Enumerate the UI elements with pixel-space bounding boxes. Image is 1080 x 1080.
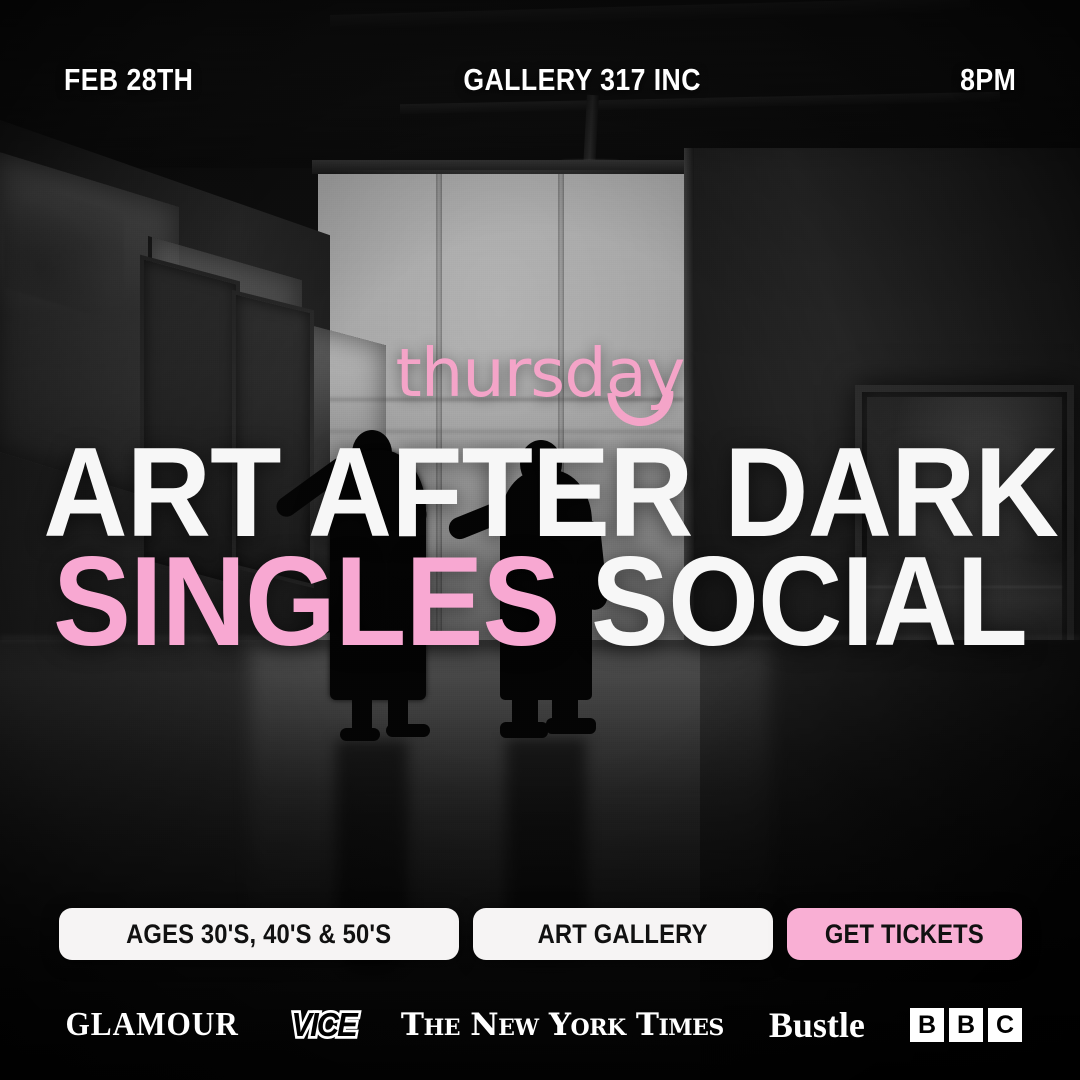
event-date: FEB 28TH bbox=[64, 62, 193, 98]
event-details-bar: FEB 28TH GALLERY 317 INC 8PM bbox=[0, 62, 1080, 98]
event-time: 8PM bbox=[960, 62, 1016, 98]
ages-badge: AGES 30'S, 40'S & 50'S bbox=[59, 908, 459, 960]
event-venue-name: GALLERY 317 INC bbox=[464, 62, 702, 98]
glamour-logo: GLAMOUR bbox=[66, 1006, 239, 1044]
event-poster: FEB 28TH GALLERY 317 INC 8PM thursday AR… bbox=[0, 0, 1080, 1080]
bustle-logo: Bustle bbox=[769, 1004, 865, 1046]
new-york-times-logo: The New York Times bbox=[401, 1007, 724, 1043]
headline-highlight: SINGLES bbox=[53, 530, 559, 672]
bbc-logo: B B C bbox=[910, 1008, 1022, 1042]
press-logo-strip: GLAMOUR VICE The New York Times Bustle B… bbox=[0, 994, 1080, 1056]
thursday-logo[interactable]: thursday bbox=[0, 340, 1080, 407]
headline-line-2-rest bbox=[560, 530, 592, 672]
headline-line-2-tail: SOCIAL bbox=[591, 530, 1027, 672]
ages-badge-label: AGES 30'S, 40'S & 50'S bbox=[126, 919, 391, 950]
poster-overlay: FEB 28TH GALLERY 317 INC 8PM thursday AR… bbox=[0, 0, 1080, 1080]
bbc-letter-box: C bbox=[988, 1008, 1022, 1042]
info-pill-row: AGES 30'S, 40'S & 50'S ART GALLERY GET T… bbox=[0, 908, 1080, 960]
vice-logo: VICE bbox=[291, 1006, 355, 1045]
get-tickets-label: GET TICKETS bbox=[824, 919, 983, 950]
headline-line-2: SINGLES SOCIAL bbox=[43, 547, 1037, 656]
venue-type-label: ART GALLERY bbox=[537, 919, 707, 950]
venue-type-badge: ART GALLERY bbox=[473, 908, 773, 960]
page-title: ART AFTER DARK SINGLES SOCIAL bbox=[0, 438, 1080, 656]
bbc-letter-box: B bbox=[910, 1008, 944, 1042]
get-tickets-button[interactable]: GET TICKETS bbox=[787, 908, 1022, 960]
bbc-letter-box: B bbox=[949, 1008, 983, 1042]
